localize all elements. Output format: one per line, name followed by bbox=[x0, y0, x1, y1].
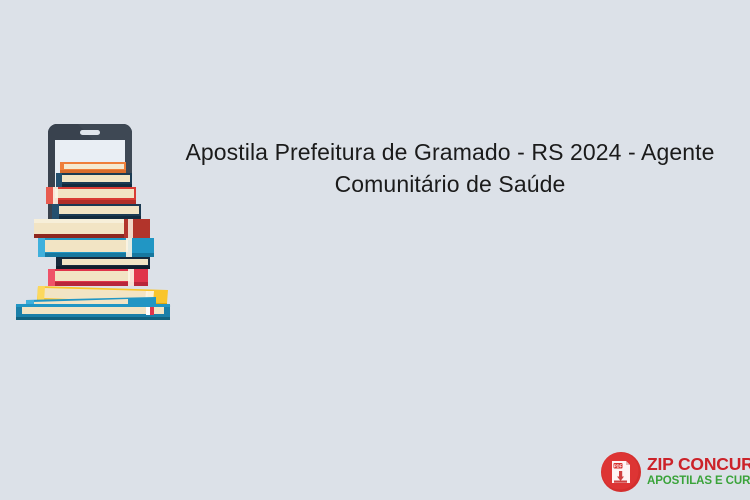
stack-of-books-illustration bbox=[8, 120, 178, 320]
banner-title-block: Apostila Prefeitura de Gramado - RS 2024… bbox=[160, 136, 740, 200]
book-layer-orange-top bbox=[60, 162, 126, 173]
book-layer-teal-1 bbox=[38, 238, 154, 257]
page-title: Apostila Prefeitura de Gramado - RS 2024… bbox=[160, 136, 740, 200]
logo-wordmark: ZIP CONCURSOS APOSTILAS E CURSOS bbox=[647, 456, 750, 488]
book-layer-crimson bbox=[48, 269, 148, 286]
zip-concursos-logo[interactable]: PDF ZIP CONCURSOS APOSTILAS E CURSOS bbox=[600, 449, 745, 494]
bookmark-white bbox=[146, 307, 150, 315]
book-layer-red-1 bbox=[46, 187, 136, 204]
book-layer-navy-2 bbox=[52, 204, 141, 219]
logo-subtitle: APOSTILAS E CURSOS bbox=[647, 476, 750, 488]
book-layer-maroon bbox=[34, 219, 150, 238]
book-layer-base bbox=[16, 304, 170, 320]
svg-text:PDF: PDF bbox=[614, 463, 623, 468]
book-layer-navy-1 bbox=[56, 173, 132, 187]
pdf-download-icon: PDF bbox=[600, 451, 642, 493]
logo-title: ZIP CONCURSOS bbox=[647, 456, 750, 474]
product-banner: Apostila Prefeitura de Gramado - RS 2024… bbox=[0, 0, 750, 500]
bookmark-red bbox=[150, 307, 154, 315]
book-layer-navy-3 bbox=[56, 257, 150, 269]
